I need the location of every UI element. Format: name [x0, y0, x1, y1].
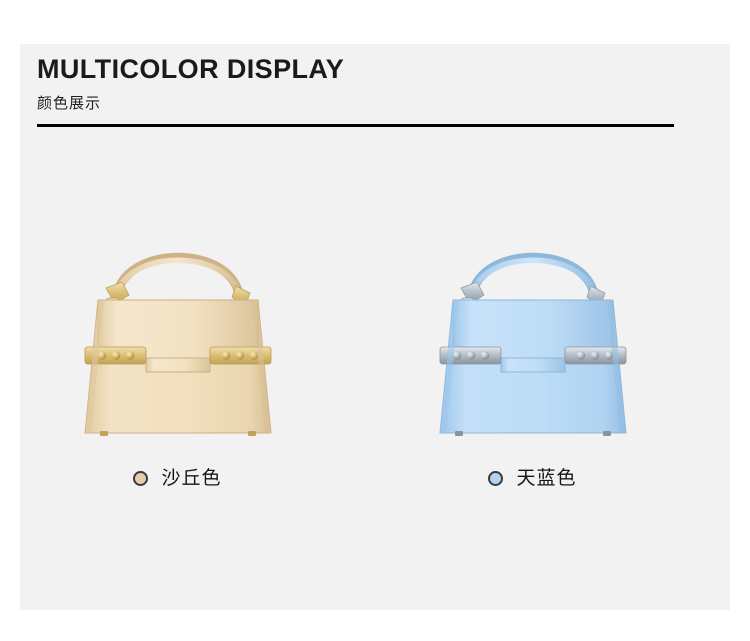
section-header: MULTICOLOR DISPLAY 颜色展示: [37, 55, 674, 113]
bag-foot-right: [248, 431, 256, 436]
handbag-illustration-blue: [413, 200, 653, 450]
product-list: 沙丘色: [0, 200, 710, 488]
bag-handle-outer: [471, 257, 595, 303]
header-divider: [37, 124, 674, 127]
color-swatch-label-beige: 沙丘色: [161, 469, 221, 488]
color-swatch-row-blue[interactable]: 天蓝色: [413, 469, 653, 488]
product-item-beige[interactable]: 沙丘色: [0, 200, 355, 488]
product-item-blue[interactable]: 天蓝色: [355, 200, 710, 488]
bag-foot-left: [100, 431, 108, 436]
color-swatch-row-beige[interactable]: 沙丘色: [58, 469, 298, 488]
color-swatch-dot-blue[interactable]: [488, 471, 503, 486]
page-subtitle: 颜色展示: [37, 92, 674, 113]
color-swatch-label-blue: 天蓝色: [516, 469, 576, 488]
bag-foot-right: [603, 431, 611, 436]
bag-handle-outer: [116, 257, 240, 303]
handbag-illustration-beige: [58, 200, 298, 450]
bag-image-beige: [58, 200, 298, 450]
bag-flap-tab: [146, 358, 210, 372]
bag-flap-tab: [501, 358, 565, 372]
page-title: MULTICOLOR DISPLAY: [37, 55, 674, 83]
bag-foot-left: [455, 431, 463, 436]
color-swatch-dot-beige[interactable]: [133, 471, 148, 486]
product-color-display-page: MULTICOLOR DISPLAY 颜色展示: [0, 0, 750, 641]
bag-image-blue: [413, 200, 653, 450]
